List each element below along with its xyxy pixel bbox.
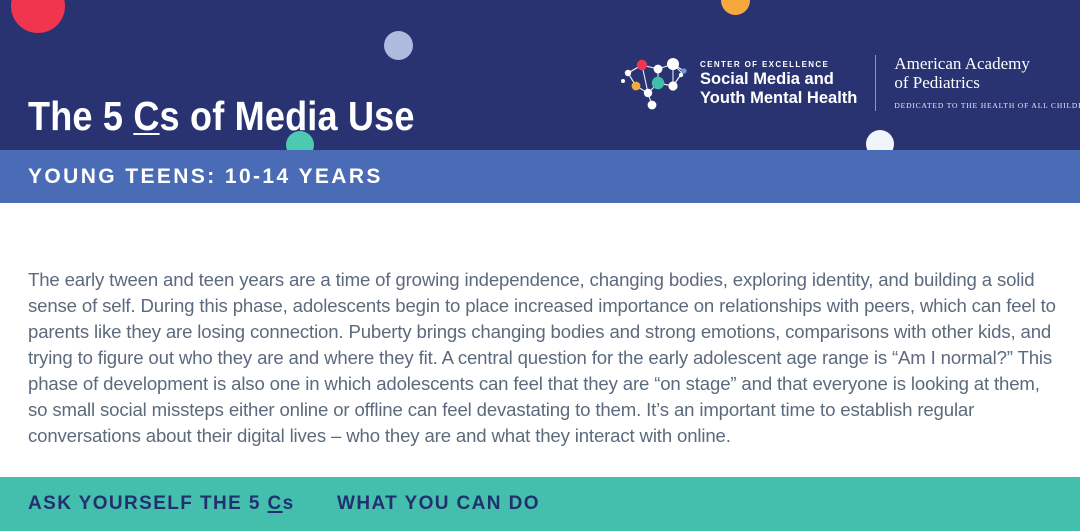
- aap-logo: American Academy of Pediatrics DEDICATED…: [894, 54, 1080, 113]
- intro-section: The early tween and teen years are a tim…: [0, 203, 1080, 477]
- media-use-handout-page: The 5 Cs of Media Use: [0, 0, 1080, 531]
- decorative-dot-orange: [721, 0, 750, 15]
- page-title-suffix: s of Media Use: [160, 93, 415, 139]
- column-header-underlined-c: C: [268, 493, 283, 514]
- column-header-what-you-can-do: WHAT YOU CAN DO: [337, 493, 540, 515]
- page-header: The 5 Cs of Media Use: [0, 0, 1080, 150]
- column-header-ask-suffix: s: [283, 493, 295, 514]
- center-of-excellence-wordmark: CENTER OF EXCELLENCE Social Media and Yo…: [700, 59, 857, 107]
- coe-name-line1: Social Media and: [700, 70, 857, 89]
- coe-kicker: CENTER OF EXCELLENCE: [700, 59, 857, 70]
- center-of-excellence-logo: CENTER OF EXCELLENCE Social Media and Yo…: [618, 53, 857, 113]
- aap-name-line1: American Academy: [894, 54, 1080, 73]
- column-headers-band: ASK YOURSELF THE 5 Cs WHAT YOU CAN DO: [0, 477, 1080, 531]
- column-header-ask-yourself: ASK YOURSELF THE 5 Cs: [28, 493, 295, 515]
- page-title: The 5 Cs of Media Use: [28, 93, 415, 139]
- network-nodes-icon: [618, 53, 692, 113]
- decorative-dot-red: [11, 0, 65, 33]
- aap-name-line2: of Pediatrics: [894, 73, 1080, 92]
- intro-paragraph: The early tween and teen years are a tim…: [28, 267, 1060, 449]
- coe-name-line2: Youth Mental Health: [700, 89, 857, 108]
- age-range-label: YOUNG TEENS: 10-14 YEARS: [28, 165, 383, 189]
- column-header-ask-prefix: ASK YOURSELF THE 5: [28, 493, 268, 514]
- aap-tagline: DEDICATED TO THE HEALTH OF ALL CHILDREN®: [894, 99, 1080, 113]
- logo-divider: [875, 55, 876, 111]
- page-title-underlined-c: C: [133, 93, 159, 139]
- page-title-prefix: The 5: [28, 93, 133, 139]
- aap-wordmark: American Academy of Pediatrics DEDICATED…: [894, 54, 1080, 113]
- logo-lockup: CENTER OF EXCELLENCE Social Media and Yo…: [618, 50, 1080, 116]
- decorative-dot-periwinkle: [384, 31, 413, 60]
- age-range-band: YOUNG TEENS: 10-14 YEARS: [0, 150, 1080, 203]
